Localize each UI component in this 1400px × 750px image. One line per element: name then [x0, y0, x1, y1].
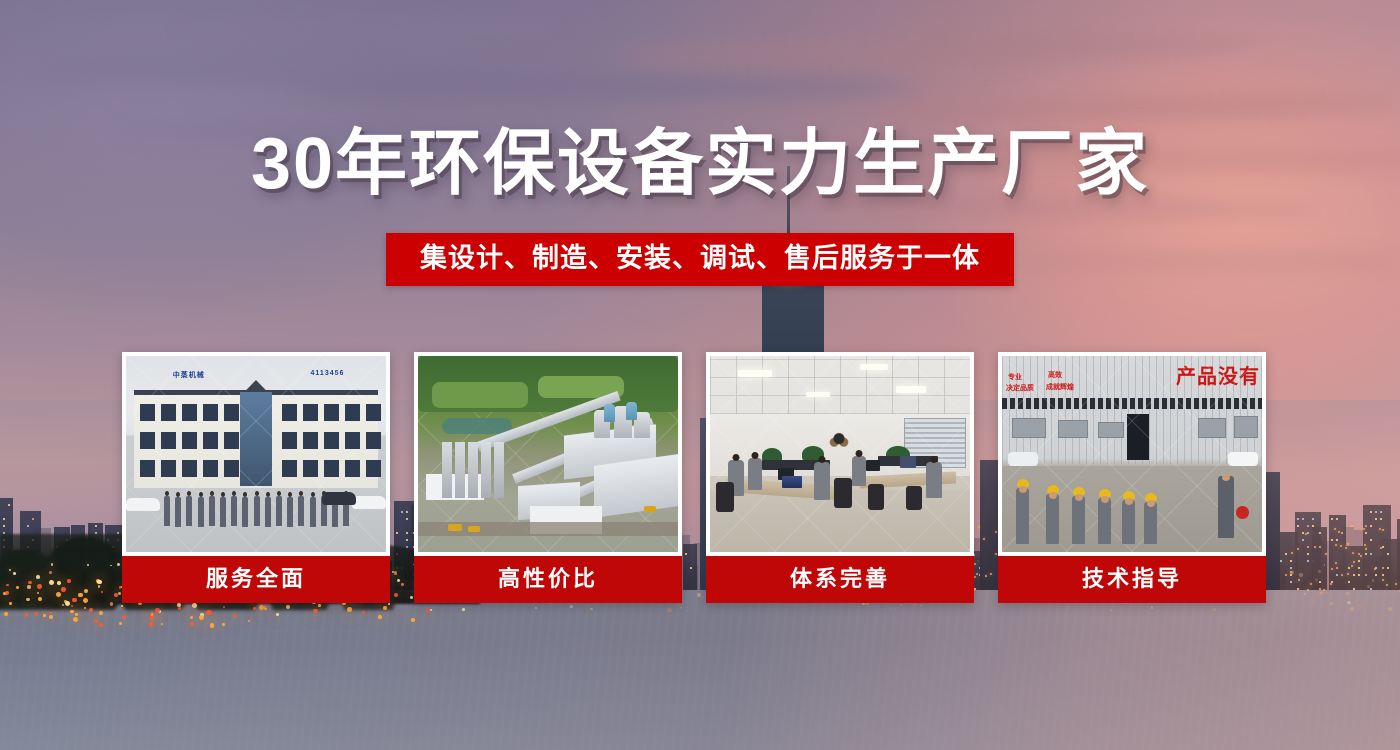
yellow-truck	[468, 526, 480, 532]
staff-person	[254, 496, 260, 526]
building-window	[324, 432, 339, 449]
window-light	[1370, 525, 1372, 527]
window-light	[1331, 518, 1333, 520]
staff-person	[198, 497, 204, 527]
laptop	[782, 476, 802, 488]
page-title: 30年环保设备实力生产厂家	[0, 128, 1400, 200]
glass-atrium	[240, 392, 271, 486]
building-window	[282, 404, 297, 421]
building-window	[282, 460, 297, 477]
preheater-tower	[455, 442, 465, 498]
window-light	[1302, 532, 1304, 534]
window-light	[1302, 539, 1304, 541]
skyline-building	[1329, 515, 1346, 600]
staff-person	[298, 496, 304, 526]
card-label: 高性价比	[414, 556, 682, 603]
parked-car	[126, 498, 160, 511]
ceiling-light	[896, 386, 926, 393]
plant-aerial-photo	[418, 356, 678, 552]
window-light	[1285, 574, 1287, 576]
card-label: 技术指导	[998, 556, 1266, 603]
factory-window	[1098, 422, 1124, 438]
office-chair	[868, 484, 884, 510]
window-light	[1307, 532, 1309, 534]
window-light	[1331, 581, 1333, 583]
window-light	[1290, 574, 1292, 576]
pond	[442, 418, 512, 434]
yellow-truck	[644, 506, 656, 512]
window-light	[1375, 574, 1377, 576]
staff-person	[186, 496, 192, 526]
window-light	[1375, 567, 1377, 569]
parked-car	[322, 492, 356, 505]
window-light	[1387, 553, 1389, 555]
feature-card[interactable]: 高性价比	[414, 352, 682, 603]
building-window	[182, 432, 197, 449]
office-chair	[834, 478, 852, 508]
preheater-tower	[442, 442, 452, 498]
silo-top	[604, 404, 615, 422]
processing-hall	[594, 454, 678, 518]
worker	[1016, 488, 1029, 544]
ceiling-light	[860, 364, 888, 370]
building-window	[324, 404, 339, 421]
staff-person	[310, 497, 316, 527]
window-light	[1336, 518, 1338, 520]
window-light	[1348, 567, 1350, 569]
window-light	[1285, 553, 1287, 555]
building-window	[282, 432, 297, 449]
window-light	[1382, 574, 1384, 576]
staff-person	[276, 496, 282, 526]
preheater-tower	[481, 442, 491, 498]
staff-person	[287, 497, 293, 527]
supervisor-face	[1222, 474, 1230, 481]
building-window	[203, 432, 218, 449]
window-light	[1331, 539, 1333, 541]
window-light	[1319, 581, 1321, 583]
preheater-tower	[468, 442, 478, 498]
office-worker	[748, 458, 762, 490]
window-light	[1365, 553, 1367, 555]
factory-sign-small-2: 高效	[1048, 370, 1062, 380]
factory-sign-main: 产品没有	[1176, 360, 1260, 389]
window-light	[1353, 574, 1355, 576]
building-window	[182, 404, 197, 421]
facade-window-strip	[1002, 398, 1262, 409]
window-light	[1358, 560, 1360, 562]
building-window	[345, 460, 360, 477]
ceiling-grid	[710, 356, 970, 414]
window-light	[1312, 518, 1314, 520]
worker-face	[1125, 498, 1133, 505]
window-light	[1348, 581, 1350, 583]
window-light	[1290, 581, 1292, 583]
staff-person	[265, 497, 271, 527]
worker	[1122, 500, 1135, 544]
window-light	[1375, 518, 1377, 520]
supervisor	[1218, 476, 1234, 538]
office-chair	[716, 482, 734, 512]
office-worker	[926, 462, 942, 498]
factory-sign-small-4: 成就辉煌	[1046, 382, 1074, 392]
parked-car	[1228, 452, 1258, 466]
factory-window	[1058, 420, 1088, 438]
building-window	[345, 432, 360, 449]
worker-face	[1147, 500, 1155, 507]
worker	[1046, 494, 1059, 544]
window-light	[1365, 525, 1367, 527]
staff-person	[209, 496, 215, 526]
window-light	[1380, 511, 1382, 513]
ceiling-light	[738, 370, 772, 377]
office-chair	[906, 486, 922, 510]
ceiling-light	[806, 392, 830, 397]
building-window	[203, 460, 218, 477]
banner-stage: 30年环保设备实力生产厂家 集设计、制造、安装、调试、售后服务于一体 中蒸机械 …	[0, 0, 1400, 750]
factory-door	[1127, 414, 1149, 460]
computer-monitor	[900, 456, 916, 468]
worker	[1144, 502, 1157, 544]
window-light	[1358, 567, 1360, 569]
window-light	[1370, 539, 1372, 541]
feature-card[interactable]: 中蒸机械 4113456 服务全面	[122, 352, 390, 603]
window-light	[1382, 546, 1384, 548]
building-window	[303, 432, 318, 449]
feature-card[interactable]: 体系完善	[706, 352, 974, 603]
parked-car	[1008, 452, 1038, 466]
window-light	[1370, 553, 1372, 555]
building-window	[140, 432, 155, 449]
office-worker	[814, 462, 830, 500]
worker	[1098, 498, 1111, 544]
red-hard-hat	[1236, 506, 1249, 519]
building-window	[324, 460, 339, 477]
window-light	[1365, 574, 1367, 576]
window-light	[1380, 518, 1382, 520]
silo-top	[626, 402, 637, 420]
factory-sign-small-3: 决定品质	[1006, 383, 1034, 393]
building-window	[224, 432, 239, 449]
building-window	[140, 404, 155, 421]
window-light	[1307, 546, 1309, 548]
building-window	[161, 432, 176, 449]
window-light	[1297, 525, 1299, 527]
building-window	[161, 404, 176, 421]
factory-window	[1198, 418, 1226, 438]
company-headquarters-photo: 中蒸机械 4113456	[126, 356, 386, 552]
window-light	[1297, 518, 1299, 520]
window-light	[1290, 560, 1292, 562]
worker-face	[1049, 492, 1057, 499]
workers-briefing-photo: 产品没有 专业 高效 决定品质 成就辉煌	[1002, 356, 1262, 552]
window-light	[1336, 539, 1338, 541]
green-field	[432, 382, 528, 408]
window-light	[1319, 532, 1321, 534]
card-label: 服务全面	[122, 556, 390, 603]
window-light	[1382, 567, 1384, 569]
window-light	[1375, 511, 1377, 513]
window-light	[1336, 567, 1338, 569]
worker	[1072, 496, 1085, 544]
window-light	[1358, 574, 1360, 576]
building-window	[224, 460, 239, 477]
subtitle-banner: 集设计、制造、安装、调试、售后服务于一体	[386, 233, 1014, 286]
window-light	[1307, 553, 1309, 555]
window-light	[1290, 567, 1292, 569]
preheater-tower	[494, 442, 504, 498]
factory-window	[1234, 416, 1258, 438]
worker-face	[1101, 496, 1109, 503]
staff-person	[175, 497, 181, 527]
factory-window	[1012, 418, 1046, 438]
staff-person	[231, 496, 237, 526]
staff-person	[242, 497, 248, 527]
window-light	[1336, 574, 1338, 576]
building-window	[203, 404, 218, 421]
parked-car	[352, 496, 386, 509]
building-window	[140, 460, 155, 477]
window-light	[1319, 546, 1321, 548]
subtitle-row: 集设计、制造、安装、调试、售后服务于一体	[0, 233, 1400, 286]
window-light	[1307, 525, 1309, 527]
office-worker	[852, 456, 866, 486]
window-light	[1341, 532, 1343, 534]
building-window	[366, 460, 381, 477]
building-window	[366, 404, 381, 421]
worker-face	[1019, 486, 1027, 493]
window-light	[1307, 560, 1309, 562]
building-window	[182, 460, 197, 477]
window-light	[1280, 560, 1282, 562]
wall-decal	[822, 420, 856, 450]
factory-sign-small-1: 专业	[1008, 372, 1022, 382]
window-light	[1387, 567, 1389, 569]
building-window	[161, 460, 176, 477]
window-light	[1314, 546, 1316, 548]
building-window	[366, 432, 381, 449]
window-light	[1365, 532, 1367, 534]
yellow-truck	[448, 524, 462, 531]
computer-monitor	[866, 460, 880, 471]
building-signage: 中蒸机械	[173, 370, 205, 380]
building-window	[224, 404, 239, 421]
feature-card-row: 中蒸机械 4113456 服务全面 高性价比 体系完善	[122, 352, 1278, 603]
staff-person	[164, 496, 170, 526]
window-light	[1370, 511, 1372, 513]
building-window	[303, 404, 318, 421]
office-interior-photo	[710, 356, 970, 552]
window-light	[1358, 553, 1360, 555]
building-phone-number: 4113456	[311, 370, 345, 377]
card-label: 体系完善	[706, 556, 974, 603]
water-shimmer	[0, 590, 1400, 750]
building-window	[345, 404, 360, 421]
staff-person	[220, 497, 226, 527]
feature-card[interactable]: 产品没有 专业 高效 决定品质 成就辉煌 技术指导	[998, 352, 1266, 603]
worker-face	[1075, 494, 1083, 501]
window-light	[1302, 518, 1304, 520]
building-window	[303, 460, 318, 477]
